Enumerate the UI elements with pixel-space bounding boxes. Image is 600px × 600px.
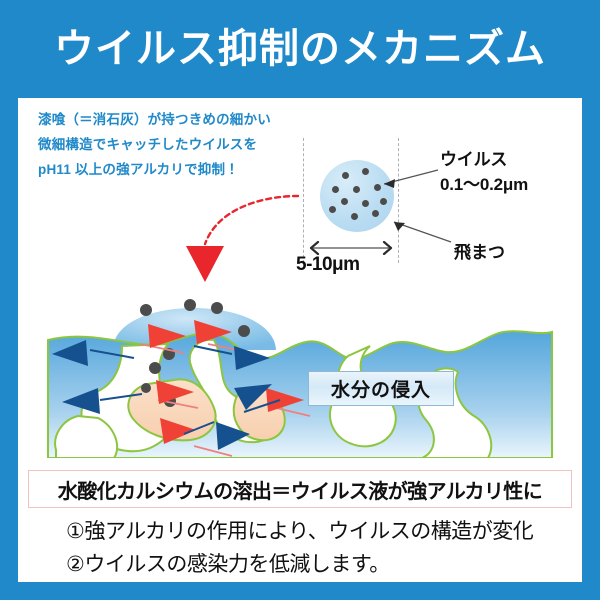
dimension-guide-right xyxy=(398,138,399,263)
water-ingress-box: 水分の侵入 xyxy=(308,371,454,406)
red-curved-arrow-icon xyxy=(158,186,308,286)
virus-dot xyxy=(341,198,348,205)
content-card: 漆喰（＝消石灰）が持つきめの細かい 微細構造でキャッチしたウイルスを pH11 … xyxy=(18,98,582,582)
wall-structure-illustration xyxy=(18,288,582,458)
virus-dot xyxy=(351,213,358,220)
droplet-label: 飛まつ xyxy=(454,238,505,263)
conclusion-headline-text: 水酸化カルシウムの溶出＝ウイルス液が強アルカリ性に xyxy=(58,475,542,504)
virus-dot xyxy=(362,168,369,175)
virus-label: ウイルス 0.1〜0.2μm xyxy=(440,148,528,197)
virus-dot xyxy=(342,172,349,179)
list-item: ②ウイルスの感染力を低減します。 xyxy=(66,549,566,582)
virus-dot xyxy=(380,198,387,205)
droplet-circle xyxy=(320,160,394,232)
virus-dot xyxy=(372,210,379,217)
virus-dot xyxy=(332,186,339,193)
virus-dot xyxy=(374,184,381,191)
conclusion-list: ①強アルカリの作用により、ウイルスの構造が変化 ②ウイルスの感染力を低減します。 xyxy=(66,516,566,581)
water-ingress-label: 水分の侵入 xyxy=(331,375,431,402)
list-item: ①強アルカリの作用により、ウイルスの構造が変化 xyxy=(66,516,566,549)
page-title: ウイルス抑制のメカニズム xyxy=(0,0,600,98)
virus-dot xyxy=(362,200,369,207)
dimension-arrow-icon xyxy=(304,241,398,255)
droplet-diagram: 5-10μm ウイルス 0.1〜0.2μm 飛まつ xyxy=(268,138,582,313)
leader-lines xyxy=(268,138,582,313)
conclusion-headline-box: 水酸化カルシウムの溶出＝ウイルス液が強アルカリ性に xyxy=(28,470,572,508)
virus-dot xyxy=(353,186,360,193)
page-title-text: ウイルス抑制のメカニズム xyxy=(54,29,546,69)
virus-dot xyxy=(329,206,336,213)
intro-text: 漆喰（＝消石灰）が持つきめの細かい 微細構造でキャッチしたウイルスを pH11 … xyxy=(38,108,271,183)
infographic-root: ウイルス抑制のメカニズム 漆喰（＝消石灰）が持つきめの細かい 微細構造でキャッチ… xyxy=(0,0,600,600)
